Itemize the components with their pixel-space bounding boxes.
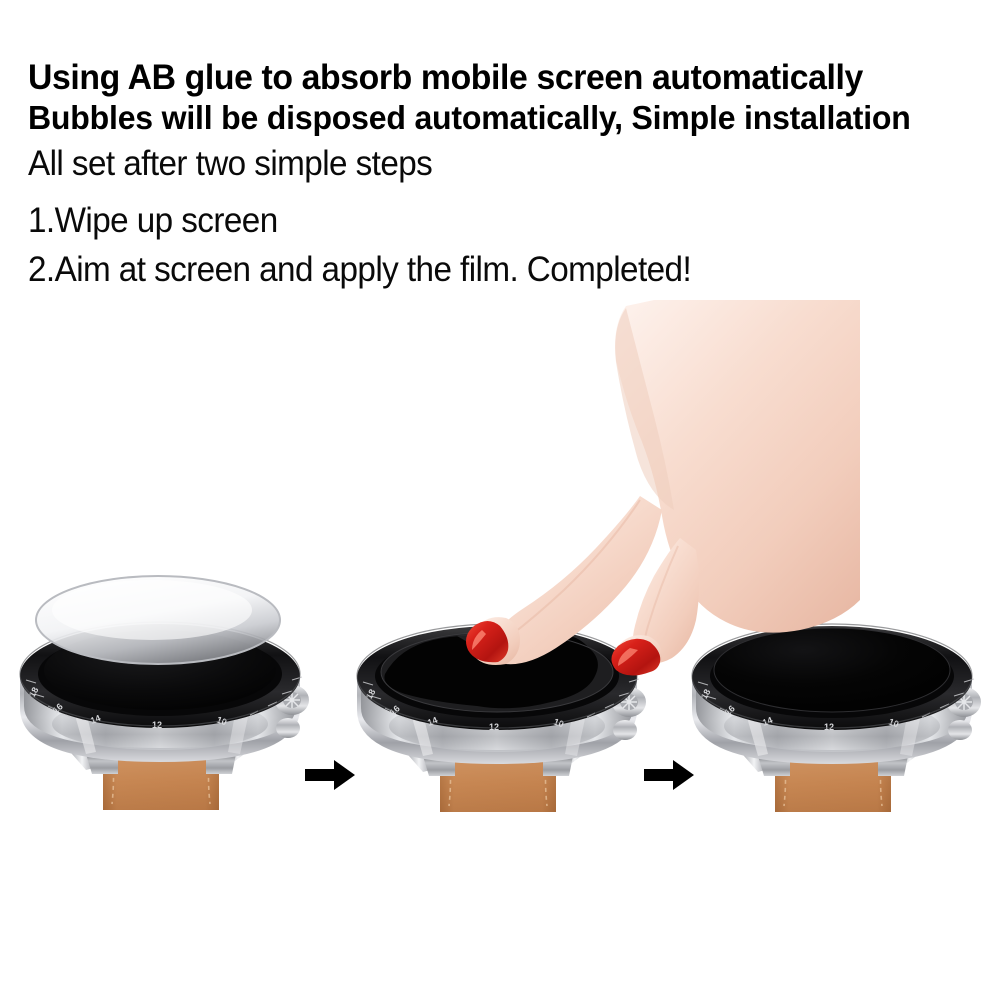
demo-step-1-watch: 18 16 14 12 10 [0, 548, 320, 848]
hand-knuckle-ridge [615, 308, 674, 510]
demo-step-2-watch: 18 16 14 12 10 [337, 590, 657, 890]
svg-text:12: 12 [489, 722, 499, 732]
demo-step-3-watch: 18 16 14 12 10 [672, 590, 992, 890]
svg-text:12: 12 [824, 722, 834, 732]
hand-back [615, 300, 860, 633]
svg-text:12: 12 [152, 720, 162, 730]
watch-screen-with-adhesive [381, 632, 613, 712]
screen-protector-film [36, 576, 280, 664]
product-instruction-graphic: Using AB glue to absorb mobile screen au… [0, 0, 1000, 1000]
illustration-scene: 18 16 14 12 10 [0, 0, 1000, 1000]
watch-screen-applied [714, 628, 950, 712]
